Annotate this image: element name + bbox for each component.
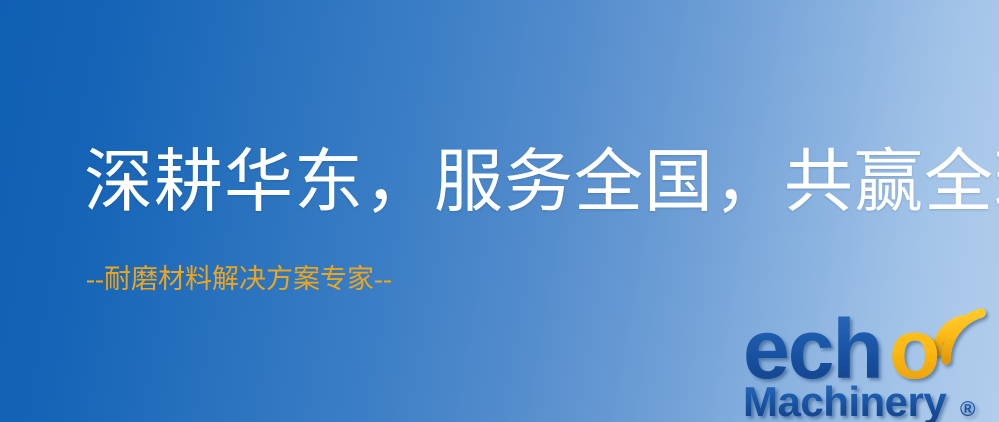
- page-title: 深耕华东，服务全国，共赢全球: [84, 148, 999, 217]
- logo-wordmark-machinery: Machinery ®: [743, 378, 976, 422]
- echo-machinery-logo-svg: ech o Machinery ®: [741, 294, 999, 422]
- svg-text:Machinery: Machinery: [743, 378, 947, 422]
- hero-banner: 深耕华东，服务全国，共赢全球 --耐磨材料解决方案专家--: [0, 0, 999, 422]
- svg-text:®: ®: [960, 398, 976, 421]
- banner-subtitle: --耐磨材料解决方案专家--: [86, 266, 392, 293]
- company-logo[interactable]: ech o Machinery ®: [741, 294, 999, 422]
- echo-wave-icon: [937, 313, 981, 360]
